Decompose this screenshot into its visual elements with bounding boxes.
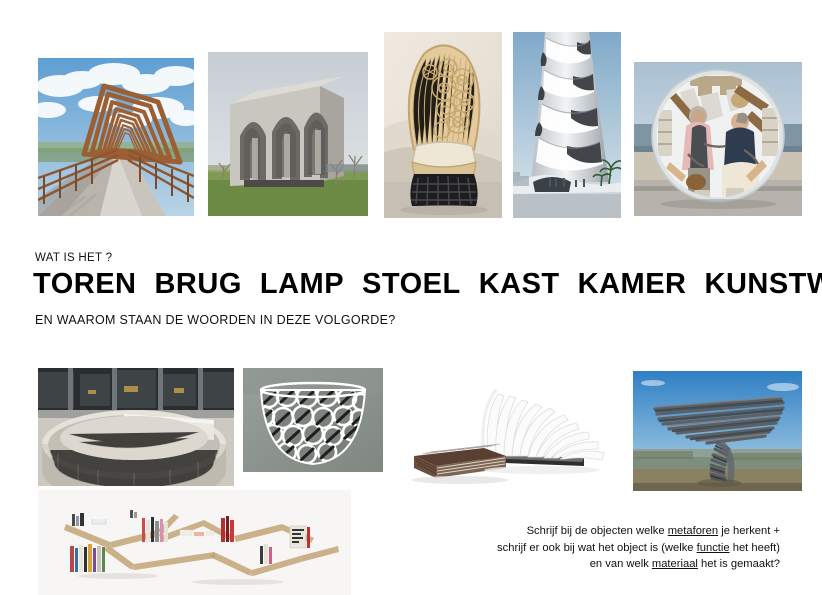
task-instructions: Schrijf bij de objecten welke metaforen … <box>470 523 780 573</box>
word-kunstwerk: KUNSTWERK <box>705 268 822 300</box>
image-concrete-monument <box>208 52 368 216</box>
word-kast: KAST <box>479 268 560 300</box>
image-book-lamp <box>402 382 610 484</box>
task-line-2: schrijf er ook bij wat het object is (we… <box>470 540 780 557</box>
image-wheel-room <box>634 62 802 216</box>
image-ring-bowl <box>243 368 383 472</box>
keyword-materiaal: materiaal <box>652 558 698 570</box>
word-kamer: KAMER <box>578 268 687 300</box>
word-toren: TOREN <box>33 268 136 300</box>
task-line-3: en van welk materiaal het is gemaakt? <box>470 556 780 573</box>
keyword-metaforen: metaforen <box>668 525 718 537</box>
keyword-functie: functie <box>697 542 730 554</box>
word-list: TORENBRUGLAMPSTOELKASTKAMERKUNSTWERK <box>33 268 822 301</box>
image-bridge <box>38 58 194 216</box>
image-circular-wall <box>38 368 234 486</box>
word-stoel: STOEL <box>362 268 461 300</box>
task-line-1: Schrijf bij de objecten welke metaforen … <box>470 523 780 540</box>
image-spiral-tower <box>513 32 621 218</box>
word-lamp: LAMP <box>260 268 344 300</box>
image-wicker-chair <box>384 32 502 218</box>
image-branch-shelf <box>38 490 351 595</box>
word-brug: BRUG <box>154 268 241 300</box>
slide-canvas: WAT IS HET ? TORENBRUGLAMPSTOELKASTKAMER… <box>0 0 822 595</box>
image-singing-tree <box>633 371 802 491</box>
question-word-order: EN WAAROM STAAN DE WOORDEN IN DEZE VOLGO… <box>35 313 395 327</box>
question-what-is-it: WAT IS HET ? <box>35 252 112 264</box>
